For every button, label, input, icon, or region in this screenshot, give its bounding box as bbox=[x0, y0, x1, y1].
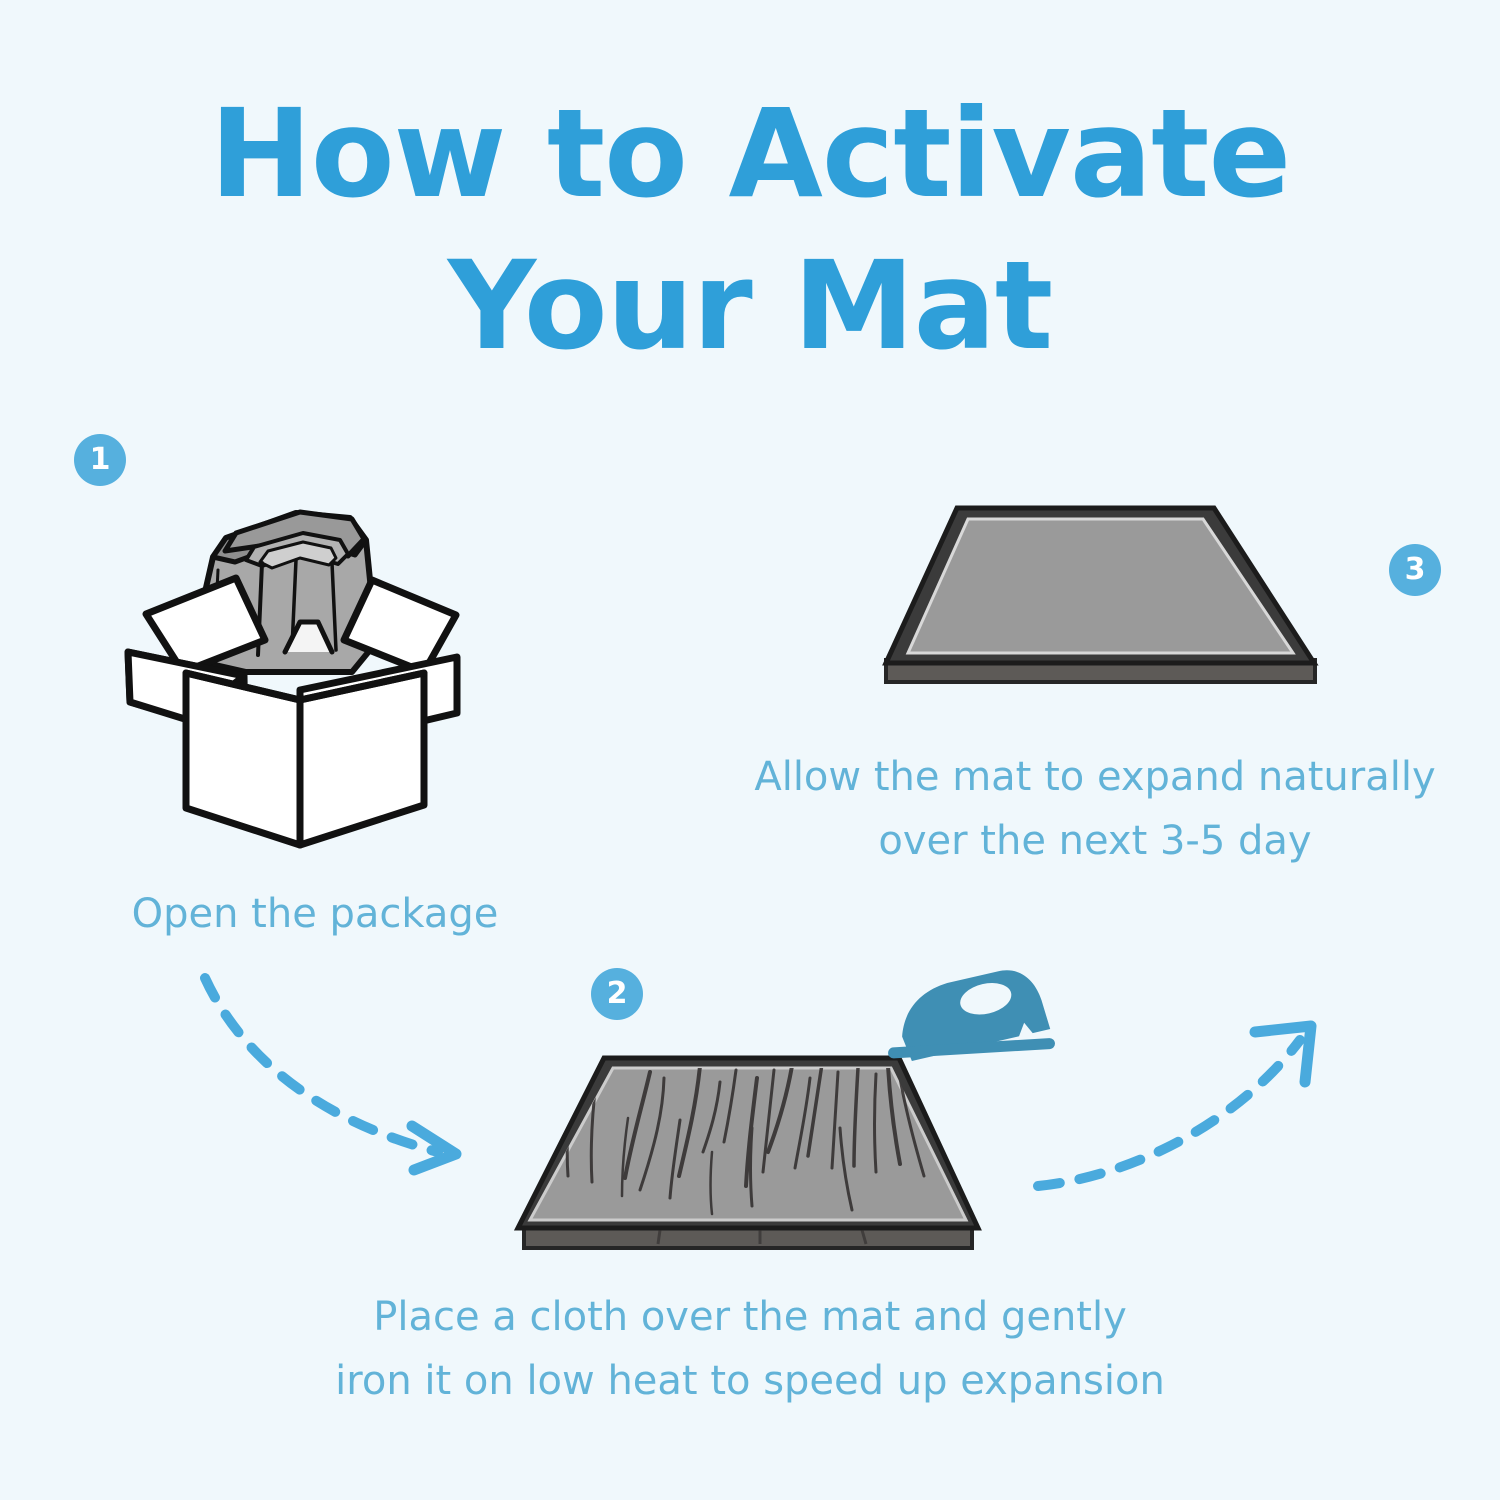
step-3-caption: Allow the mat to expand naturally over t… bbox=[690, 745, 1500, 873]
page-title: How to Activate Your Mat bbox=[0, 78, 1500, 382]
flat-mat-shape bbox=[886, 508, 1315, 682]
step-2-caption: Place a cloth over the mat and gently ir… bbox=[230, 1285, 1270, 1413]
step-badge-1: 1 bbox=[74, 434, 126, 486]
step-1-caption: Open the package bbox=[30, 882, 600, 946]
step-badge-3: 3 bbox=[1389, 544, 1441, 596]
packed-mat-shape bbox=[202, 512, 372, 672]
wrinkled-mat-shape bbox=[518, 1058, 978, 1248]
step-badge-2: 2 bbox=[591, 968, 643, 1020]
infographic-canvas: How to Activate Your Mat bbox=[0, 0, 1500, 1500]
